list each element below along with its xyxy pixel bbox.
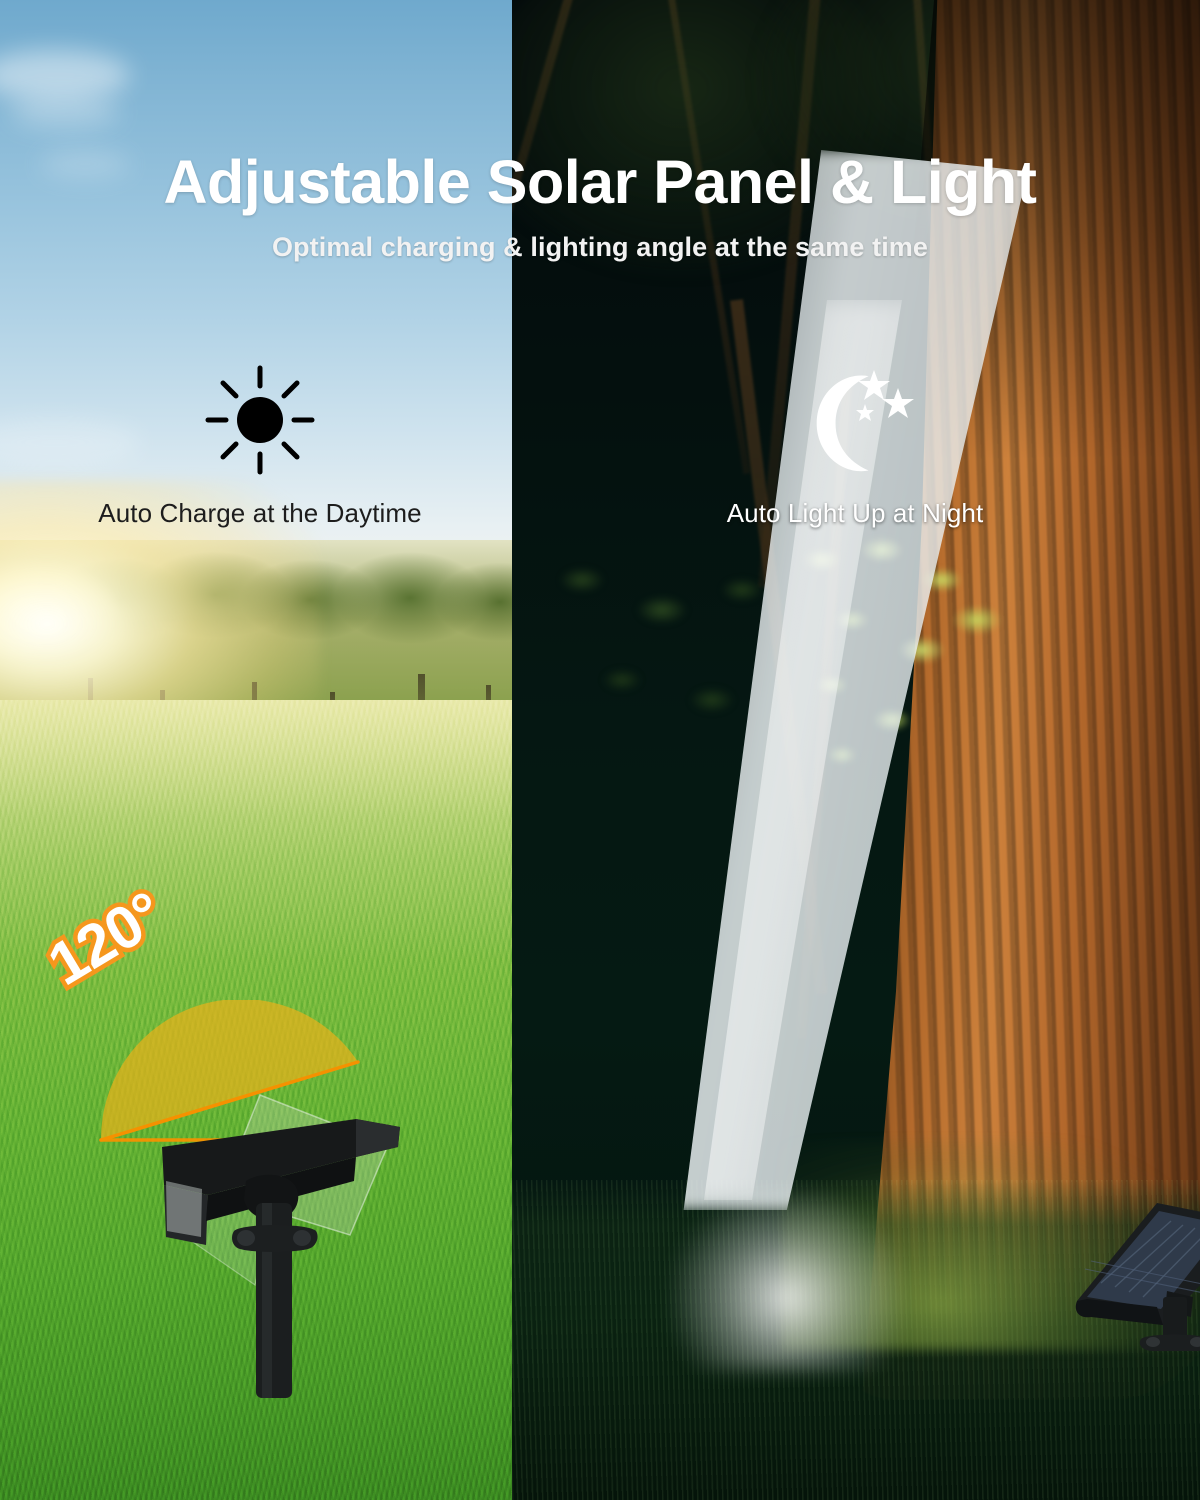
cloud — [40, 150, 130, 178]
product-feature-image: 120° — [0, 0, 1200, 1500]
solar-spotlight-night — [1067, 1175, 1200, 1355]
lit-leaves — [782, 520, 1052, 820]
cloud — [10, 95, 120, 129]
solar-spotlight-day — [150, 1085, 410, 1405]
feature-auto-charge: Auto Charge at the Daytime — [40, 360, 480, 529]
sun-icon — [40, 360, 480, 480]
feature-auto-light: Auto Light Up at Night — [605, 360, 1105, 529]
feature-label-day: Auto Charge at the Daytime — [40, 498, 480, 529]
daytime-panel: 120° — [0, 0, 512, 1500]
feature-label-night: Auto Light Up at Night — [605, 498, 1105, 529]
shadowed-leaves — [532, 540, 822, 770]
nighttime-panel — [512, 0, 1200, 1500]
moon-stars-icon — [605, 360, 1105, 480]
